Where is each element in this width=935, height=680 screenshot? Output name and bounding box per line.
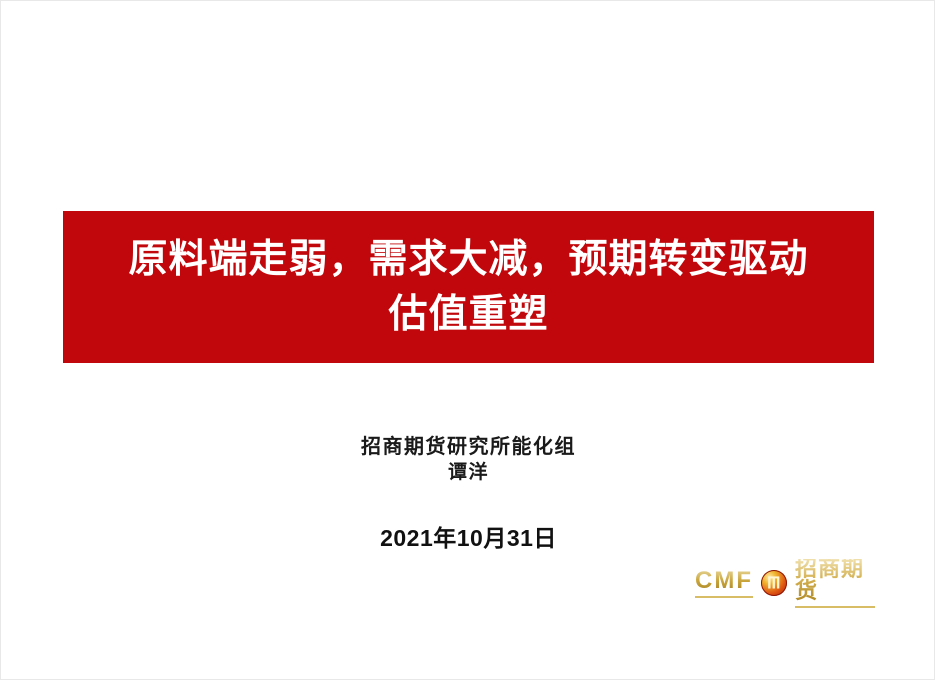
byline-block: 招商期货研究所能化组 谭洋 — [1, 433, 935, 486]
logo-latin-mark: CMF — [695, 569, 753, 598]
title-banner: 原料端走弱，需求大减，预期转变驱动 估值重塑 — [63, 211, 874, 363]
presentation-date: 2021年10月31日 — [1, 519, 935, 553]
title-line-1: 原料端走弱，需求大减，预期转变驱动 — [128, 232, 808, 287]
title-slide: 原料端走弱，需求大减，预期转变驱动 估值重塑 招商期货研究所能化组 谭洋 202… — [0, 0, 935, 680]
byline-organization: 招商期货研究所能化组 — [1, 433, 935, 460]
logo-chinese-mark: 招商期货 — [795, 559, 875, 608]
cmf-sphere-emblem-icon — [761, 570, 787, 596]
title-line-2: 估值重塑 — [388, 287, 548, 342]
byline-author: 谭洋 — [1, 460, 935, 486]
cmf-logo: CMF 招商期货 — [695, 561, 875, 605]
